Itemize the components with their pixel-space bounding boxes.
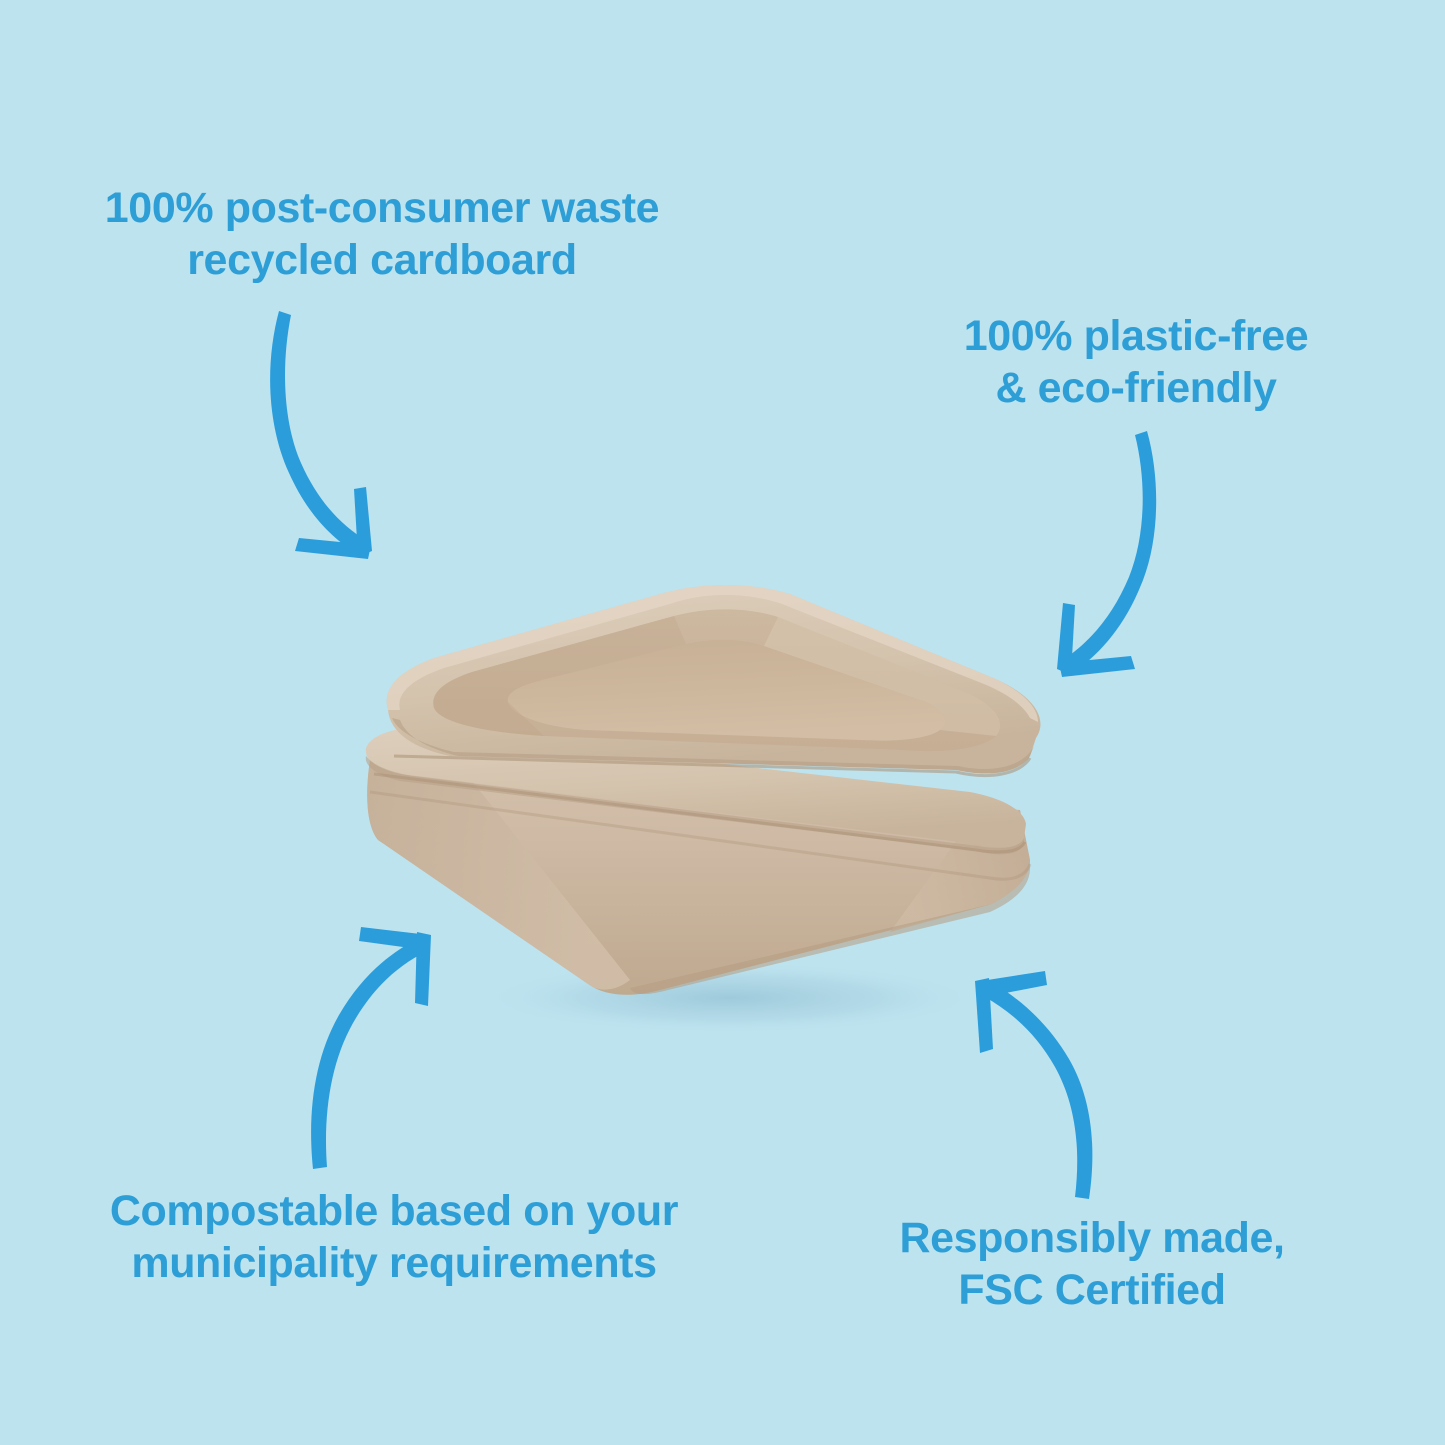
product-image-stacked-trays <box>330 560 1090 1040</box>
arrow-down-right-icon <box>255 305 425 575</box>
tray-top <box>387 585 1041 774</box>
callout-text-post-consumer-waste: 100% post-consumer waste recycled cardbo… <box>24 182 740 287</box>
infographic-canvas: 100% post-consumer waste recycled cardbo… <box>0 0 1445 1445</box>
callout-text-fsc-certified: Responsibly made, FSC Certified <box>846 1212 1338 1317</box>
callout-text-plastic-free: 100% plastic-free & eco-friendly <box>886 310 1386 415</box>
callout-text-compostable: Compostable based on your municipality r… <box>24 1185 764 1290</box>
